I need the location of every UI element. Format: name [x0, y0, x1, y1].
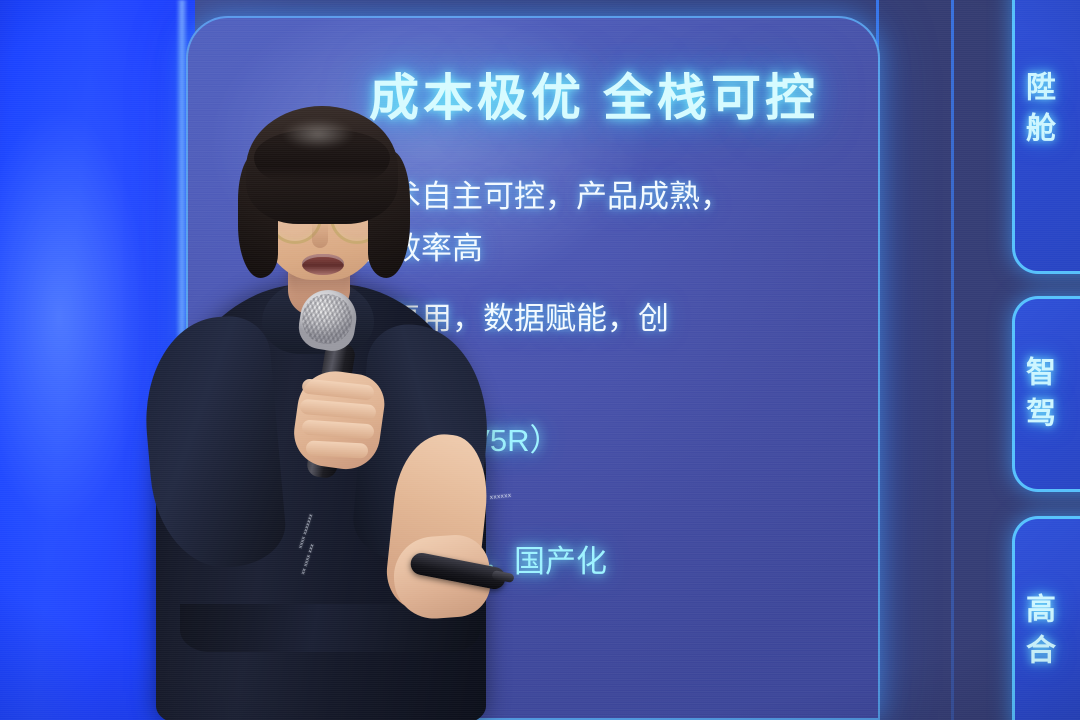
speaker-nose — [312, 222, 328, 248]
right-card-2-line1: 智 — [1026, 354, 1056, 395]
right-card-2-text: 智 驾 — [1026, 354, 1056, 435]
right-card-3: 高 合 — [1012, 516, 1080, 720]
speaker-figure: xxxxxx xxxx xxxxxxx xx xxxx xxx xxxxxx — [120, 104, 540, 720]
wall-seam-line-2 — [951, 0, 954, 720]
chest-logo-mark: xxxxxx — [490, 493, 512, 501]
right-card-1-line2: 舱 — [1026, 109, 1056, 150]
right-card-1-text: 陞 舱 — [1026, 69, 1056, 150]
speaker-mouth — [302, 254, 344, 275]
right-card-3-text: 高 合 — [1026, 591, 1056, 672]
right-card-1: 陞 舱 — [1012, 0, 1080, 274]
right-card-3-line2: 合 — [1026, 631, 1056, 672]
right-card-column: 陞 舱 智 驾 高 合 — [1012, 0, 1080, 720]
presentation-screenshot: 成本极优 全栈可控 心技术自主可控，产品成熟， 开发效率高 分时复用，数据赋能，… — [0, 0, 1080, 720]
right-card-3-line1: 高 — [1026, 591, 1056, 632]
right-card-2: 智 驾 — [1012, 296, 1080, 492]
speaker-hair-highlight — [270, 114, 366, 154]
right-card-2-line2: 驾 — [1026, 394, 1056, 435]
mic-hand-finger-4 — [306, 440, 369, 458]
right-card-1-line1: 陞 — [1026, 69, 1056, 110]
